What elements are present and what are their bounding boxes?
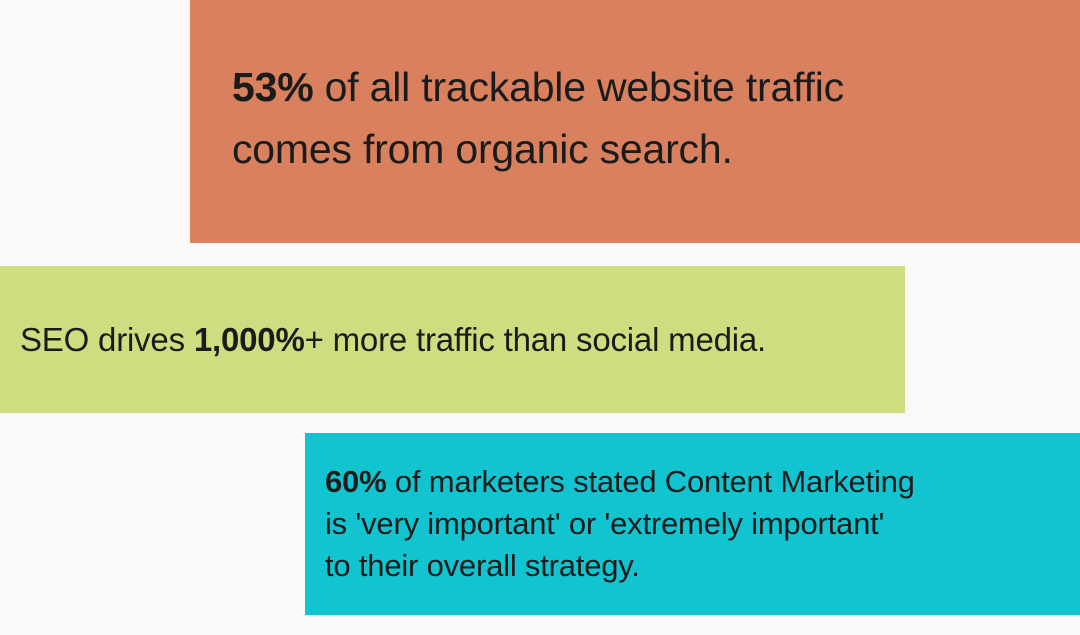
stat-line: to their overall strategy.: [325, 545, 1070, 587]
stat-line: 53% of all trackable website traffic: [232, 56, 1054, 118]
stat-line: 60% of marketers stated Content Marketin…: [325, 461, 1070, 503]
organic-search-traffic-stat: 53% of all trackable website traffic com…: [190, 0, 1080, 243]
stat-line-text: of all trackable website traffic: [313, 64, 843, 110]
seo-vs-social-stat: SEO drives 1,000%+ more traffic than soc…: [0, 266, 905, 413]
stat-line: SEO drives 1,000%+ more traffic than soc…: [20, 318, 885, 362]
stat-line-text: to their overall strategy.: [325, 548, 640, 583]
stat-text-traffic: 53% of all trackable website traffic com…: [232, 56, 1054, 180]
stat-text-content: 60% of marketers stated Content Marketin…: [325, 461, 1070, 587]
stat-emphasis-value: 60%: [325, 464, 386, 499]
stat-line-text: comes from organic search.: [232, 126, 733, 172]
stat-emphasis-value: 1,000%: [194, 321, 305, 358]
stat-line-text: is 'very important' or 'extremely import…: [325, 506, 884, 541]
stat-text-seo: SEO drives 1,000%+ more traffic than soc…: [20, 318, 885, 362]
stat-line: is 'very important' or 'extremely import…: [325, 503, 1070, 545]
content-marketing-importance-stat: 60% of marketers stated Content Marketin…: [305, 433, 1080, 615]
infographic-canvas: 53% of all trackable website traffic com…: [0, 0, 1080, 635]
stat-emphasis-value: 53%: [232, 64, 313, 110]
stat-line: comes from organic search.: [232, 118, 1054, 180]
stat-line-text: + more traffic than social media.: [305, 321, 766, 358]
stat-line-text: of marketers stated Content Marketing: [386, 464, 914, 499]
stat-line-prefix: SEO drives: [20, 321, 194, 358]
